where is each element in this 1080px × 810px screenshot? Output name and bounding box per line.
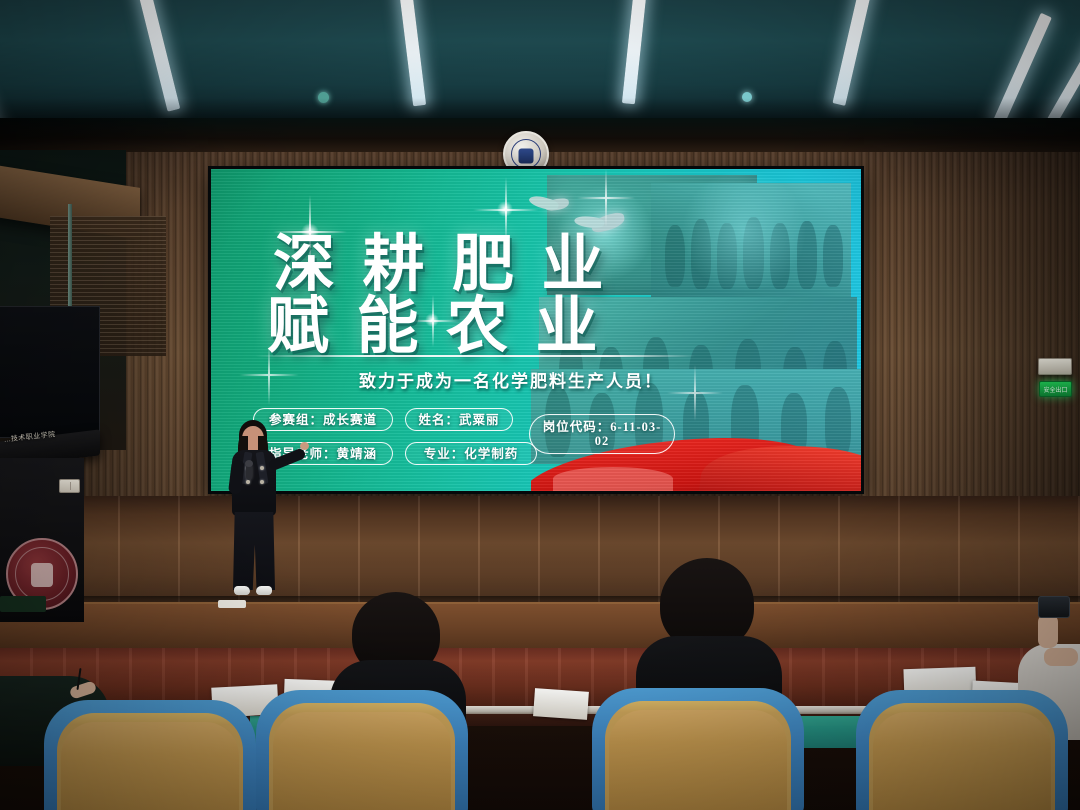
- microphone-icon: [246, 464, 252, 480]
- paper-sheet: [533, 688, 589, 720]
- slide-title-line-2: 赋 能 农 业: [267, 275, 604, 365]
- ceiling: [0, 0, 1080, 136]
- audience-chair: [256, 690, 468, 810]
- wall-power-outlet: [59, 479, 80, 493]
- presenter-hand: [300, 442, 309, 450]
- ceiling-downlight: [318, 92, 329, 103]
- presenter-right-arm-pointing: [267, 447, 306, 471]
- exit-sign-label: 安全出口: [1043, 385, 1067, 394]
- audience-chair: [44, 700, 256, 810]
- slide-divider-rule: [255, 355, 695, 357]
- ceiling-led-strip: [1045, 40, 1080, 129]
- ceiling-led-strip: [832, 0, 872, 106]
- student-presenter: [208, 420, 306, 610]
- audience-chair: [592, 688, 804, 810]
- presenter-trousers: [233, 512, 275, 590]
- ceiling-downlight: [742, 92, 752, 102]
- ceiling-led-strip: [399, 0, 426, 106]
- ceiling-led-strip: [622, 0, 647, 104]
- pill-student-name: 姓名：武粟丽: [405, 408, 513, 431]
- auditorium-scene: 安全出口: [0, 0, 1080, 810]
- pill-major: 专业：化学制药: [405, 442, 537, 465]
- audience-person-hand: [1038, 614, 1058, 648]
- slide-text-layer: 深 耕 肥 业 赋 能 农 业 致力于成为一名化学肥料生产人员！ 参赛组：成长赛…: [211, 169, 861, 491]
- wall-speaker: [1038, 358, 1072, 375]
- desk-item: [218, 600, 246, 608]
- smartphone-icon: [1038, 596, 1070, 618]
- slide-canvas: 深 耕 肥 业 赋 能 农 业 致力于成为一名化学肥料生产人员！ 参赛组：成长赛…: [211, 169, 861, 491]
- ceiling-led-strip: [992, 13, 1052, 128]
- audience-chair: [856, 690, 1068, 810]
- pill-job-code: 岗位代码：6-11-03-02: [529, 414, 675, 454]
- emergency-exit-sign: 安全出口: [1039, 381, 1072, 397]
- podium-monitor: [0, 306, 100, 438]
- audience-person-hand: [1044, 648, 1078, 666]
- desk-folder: [0, 596, 46, 612]
- stage-front-face: [0, 602, 1080, 654]
- presenter-shoe: [234, 586, 250, 595]
- presenter-shoe: [256, 586, 272, 595]
- wall-pipe: [68, 204, 72, 310]
- ceiling-led-strip: [137, 0, 181, 112]
- slide-subtitle: 致力于成为一名化学肥料生产人员！: [359, 367, 663, 392]
- stage-floor: [0, 496, 1080, 608]
